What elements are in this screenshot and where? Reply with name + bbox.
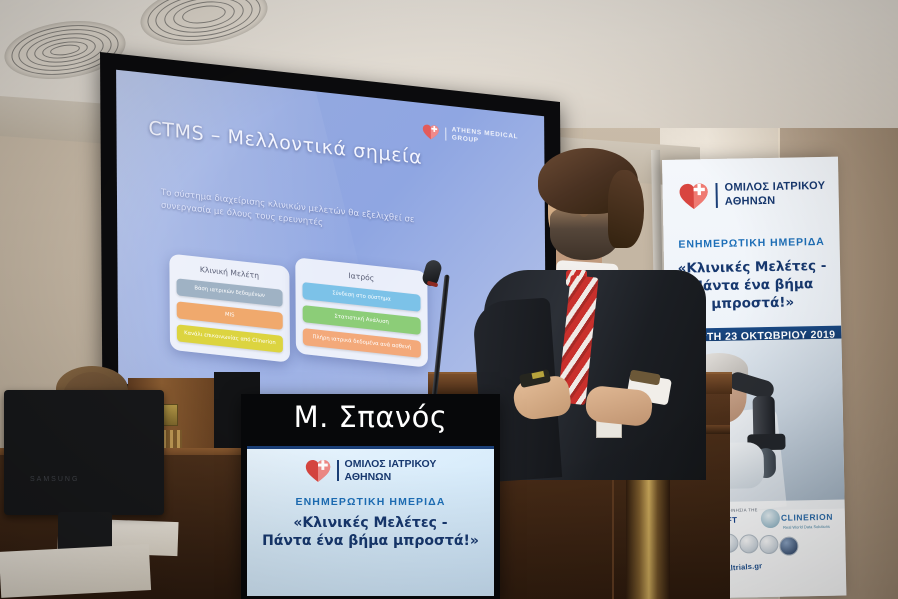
podium-sign-logo: ΟΜΙΛΟΣ ΙΑΤΡΙΚΟΥ ΑΘΗΝΩΝ [247,458,494,484]
podium-sign-org: ΟΜΙΛΟΣ ΙΑΤΡΙΚΟΥ ΑΘΗΝΩΝ [345,458,437,484]
card-chip: Κανάλι επικοινωνίας από Clinerion [177,324,283,352]
sponsor-badge [779,536,798,555]
speaker-person [478,150,713,470]
amg-logo-text: ATHENS MEDICAL GROUP [452,126,519,149]
podium-sign-kicker: ΕΝΗΜΕΡΩΤΙΚΗ ΗΜΕΡΙΔΑ [247,496,494,508]
podium-sign-title: «Κλινικές Μελέτες - Πάντα ένα βήμα μπροσ… [247,514,494,552]
monitor-brand-label: SAMSUNG [30,476,100,483]
podium-fluted-column [626,470,670,599]
papers-on-desk [0,544,151,598]
hand-right [584,385,653,428]
slide-card-doctor: Ιατρός Σύνδεση στο σύστημα Στατιστική Αν… [295,257,428,367]
podium-nameplate-screen: Μ. Σπανός ΟΜΙΛΟΣ ΙΑΤΡΙΚΟΥ ΑΘΗΝΩΝ ΕΝΗ [241,394,500,599]
hair-side [608,170,644,248]
slide-card-clinical-study: Κλινική Μελέτη Βάση ιατρικών δεδομένων M… [169,254,290,363]
sponsor-badge [759,535,778,554]
podium-sign-face: ΟΜΙΛΟΣ ΙΑΤΡΙΚΟΥ ΑΘΗΝΩΝ ΕΝΗΜΕΡΩΤΙΚΗ ΗΜΕΡΙ… [247,446,494,596]
banner-org-line2: ΑΘΗΝΩΝ [725,193,826,208]
speaker-name: Μ. Σπανός [241,400,500,434]
sponsor-clinerion: CLINERION [781,512,833,523]
banner-org-text: ΟΜΙΛΟΣ ΙΑΤΡΙΚΟΥ ΑΘΗΝΩΝ [724,180,825,208]
heart-cross-icon [422,123,439,141]
athens-medical-group-logo: ATHENS MEDICAL GROUP [422,123,519,150]
logo-divider [445,127,446,140]
sponsor-badge [739,534,758,553]
clinerion-mark-icon [761,509,780,528]
banner-org-line1: ΟΜΙΛΟΣ ΙΑΤΡΙΚΟΥ [724,180,825,195]
conference-room-photo: ATHENS MEDICAL GROUP CTMS – Μελλοντικά σ… [0,0,898,599]
heart-cross-icon [305,458,331,483]
podium-title-line1: «Κλινικές Μελέτες - [247,514,494,533]
podium-org-line2: ΑΘΗΝΩΝ [345,471,437,484]
samsung-monitor[interactable] [4,390,164,515]
logo-divider [715,183,717,208]
sponsor-clinerion-tagline: Real World Data Solutions [783,524,830,530]
podium-title-line2: Πάντα ένα βήμα μπροστά!» [247,532,494,551]
logo-divider [337,460,339,481]
podium-org-line1: ΟΜΙΛΟΣ ΙΑΤΡΙΚΟΥ [345,458,437,471]
